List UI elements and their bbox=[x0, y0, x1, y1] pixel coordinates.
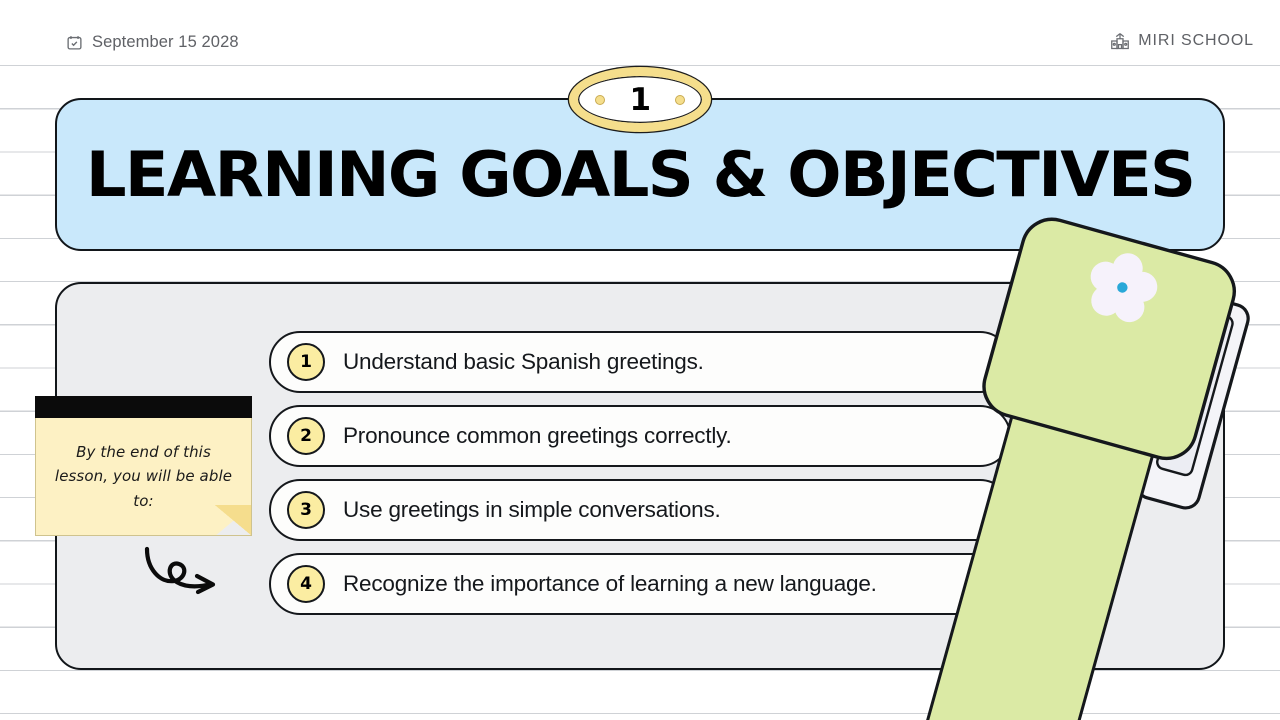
goal-text: Use greetings in simple conversations. bbox=[343, 497, 721, 523]
slide-header: September 15 2028 MIRI SCHOOL bbox=[0, 0, 1280, 67]
sticky-note-header-bar bbox=[35, 396, 252, 418]
school-building-icon bbox=[1110, 32, 1130, 50]
goal-number-badge: 2 bbox=[287, 417, 325, 455]
goal-number-badge: 3 bbox=[287, 491, 325, 529]
goal-number-badge: 1 bbox=[287, 343, 325, 381]
goals-list: 1 Understand basic Spanish greetings. 2 … bbox=[269, 331, 1011, 615]
asterisk-sparkle-icon bbox=[1036, 330, 1063, 357]
calendar-check-icon bbox=[66, 34, 83, 51]
list-item[interactable]: 2 Pronounce common greetings correctly. bbox=[269, 405, 1011, 467]
goal-number-badge: 4 bbox=[287, 565, 325, 603]
list-item[interactable]: 1 Understand basic Spanish greetings. bbox=[269, 331, 1011, 393]
date-group: September 15 2028 bbox=[66, 33, 239, 52]
page-title: LEARNING GOALS & OBJECTIVES bbox=[86, 144, 1195, 206]
asterisk-sparkle-icon bbox=[1014, 316, 1033, 336]
sticky-note-fold-corner bbox=[215, 505, 252, 536]
sticky-note: By the end of this lesson, you will be a… bbox=[35, 396, 252, 536]
brand-group: MIRI SCHOOL bbox=[1110, 32, 1254, 50]
sparkle-decoration-group bbox=[1009, 310, 1071, 364]
goal-text: Understand basic Spanish greetings. bbox=[343, 349, 704, 375]
list-item[interactable]: 3 Use greetings in simple conversations. bbox=[269, 479, 1011, 541]
slide-number: 1 bbox=[569, 67, 711, 132]
header-date: September 15 2028 bbox=[92, 33, 239, 52]
slide-number-badge: 1 bbox=[569, 67, 711, 132]
sticky-note-text: By the end of this lesson, you will be a… bbox=[36, 440, 251, 513]
list-item[interactable]: 4 Recognize the importance of learning a… bbox=[269, 553, 1011, 615]
goal-text: Recognize the importance of learning a n… bbox=[343, 571, 877, 597]
slide-canvas: September 15 2028 MIRI SCHOOL LEA bbox=[0, 0, 1280, 720]
brand-name: MIRI SCHOOL bbox=[1138, 32, 1254, 50]
curly-arrow-doodle bbox=[141, 543, 233, 603]
goal-text: Pronounce common greetings correctly. bbox=[343, 423, 732, 449]
